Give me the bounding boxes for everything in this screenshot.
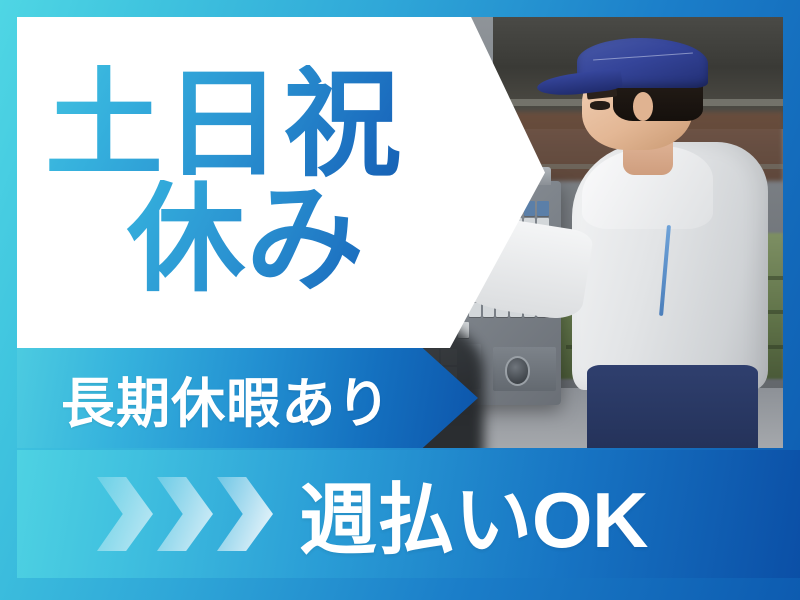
worker-eye <box>590 101 610 110</box>
chevron-right-icon <box>217 477 273 551</box>
worker-trousers <box>587 365 758 448</box>
headline-panel <box>17 17 545 348</box>
worker-ear <box>633 92 653 121</box>
ribbon-banner: 長期休暇あり <box>17 348 478 448</box>
chevron-right-icon <box>157 477 213 551</box>
ribbon-label: 長期休暇あり <box>61 359 391 438</box>
recruitment-banner: 土日祝 休み 長期休暇あり 週払いOK <box>0 0 800 600</box>
bottom-band-label: 週払いOK <box>299 458 648 570</box>
bottom-band: 週払いOK <box>17 450 800 578</box>
chevron-right-icon <box>97 477 153 551</box>
worker-figure <box>522 34 773 448</box>
chevron-arrows-group <box>97 477 273 551</box>
